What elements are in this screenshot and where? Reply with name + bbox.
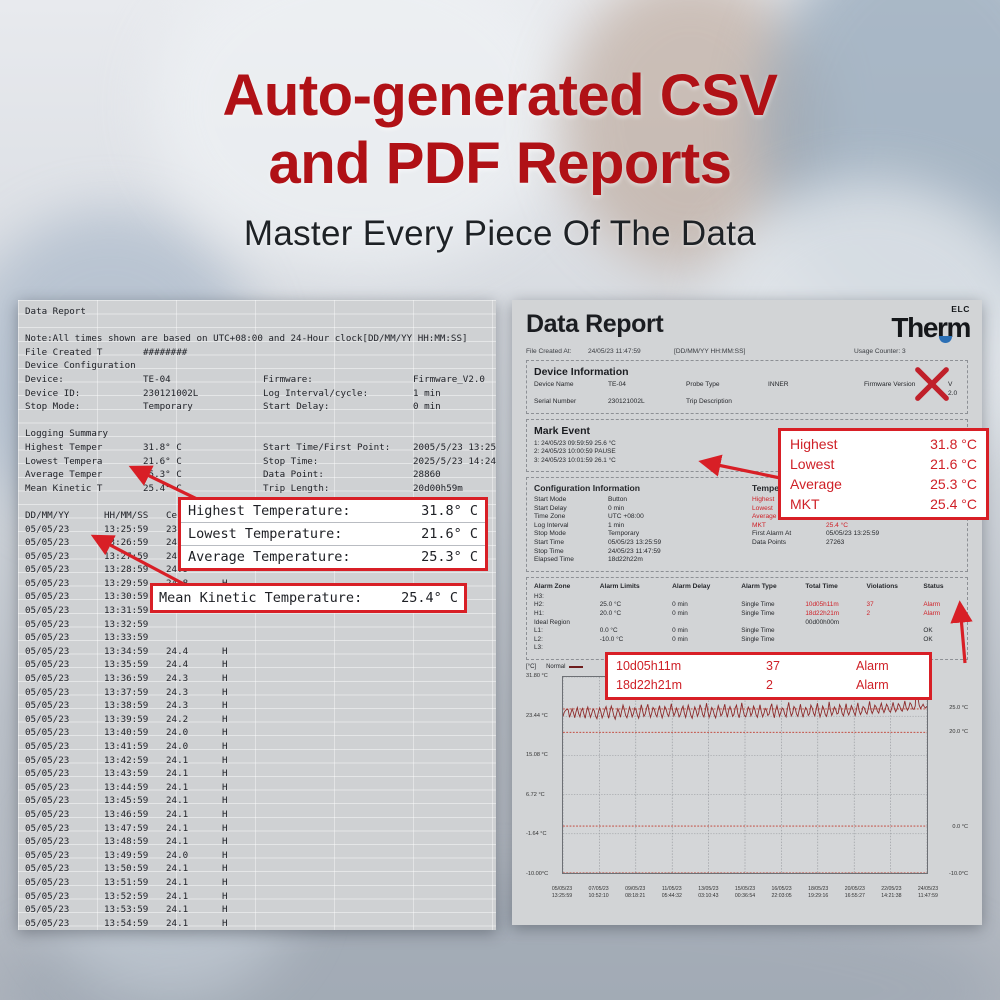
csv-spacer-2 [25,414,489,428]
chart-x-tick-label: 22/05/2314:21:38 [881,886,901,900]
chart-x-tick-label: 18/05/2319:29:16 [808,886,828,900]
csv-data-row: 05/05/2313:52:5924.1H [25,890,489,904]
device-info-key-2: Probe Type [686,381,768,398]
chart-x-axis: 05/05/2313:25:5907/05/2310:52:1009/05/23… [562,886,928,906]
csv-cell-time: 13:48:59 [104,835,166,849]
csv-cell-flag: H [222,835,262,849]
csv-cell-flag: H [222,699,262,713]
csv-config-row-label: Stop Mode: [25,400,143,414]
pdf-callout-stat-label: Lowest [790,454,834,474]
device-info-key: Serial Number [534,398,608,407]
csv-cell-centigrade: 24.0 [166,849,222,863]
csv-cell-centigrade: 24.1 [166,822,222,836]
csv-cell-time: 13:37:59 [104,686,166,700]
csv-callout-label: Lowest Temperature: [188,524,342,544]
chart-y-tick-label: -10.00°C [526,871,548,877]
csv-data-row: 05/05/2313:45:5924.1H [25,794,489,808]
csv-cell-date: 05/05/23 [25,686,104,700]
csv-cell-flag: H [222,726,262,740]
brand-logo: Therm ELC [891,312,970,344]
csv-config-row-label: Device: [25,373,143,387]
csv-cell-centigrade: 24.0 [166,740,222,754]
csv-callout-label: Highest Temperature: [188,501,351,521]
device-information-rows: Device NameTE-04Probe TypeINNERFirmware … [534,381,960,407]
csv-data-row: 05/05/2313:36:5924.3H [25,672,489,686]
csv-data-row: 05/05/2313:48:5924.1H [25,835,489,849]
chart-x-tick-time: 08:18:21 [625,893,645,900]
csv-callout-temperatures: Highest Temperature:31.8° CLowest Temper… [178,497,488,571]
csv-cell-time: 13:34:59 [104,645,166,659]
csv-cell-date: 05/05/23 [25,862,104,876]
chart-x-tick-time: 19:29:16 [808,893,828,900]
csv-data-row: 05/05/2313:34:5924.4H [25,645,489,659]
chart-x-tick-label: 09/05/2308:18:21 [625,886,645,900]
chart-x-tick-label: 24/05/2311:47:59 [918,886,938,900]
csv-config-row-label-2: Firmware: [263,373,413,387]
csv-cell-date: 05/05/23 [25,849,104,863]
chart-x-tick-date: 15/05/23 [735,886,755,893]
csv-cell-time: 13:49:59 [104,849,166,863]
chart-x-tick-time: 22:03:05 [771,893,791,900]
csv-cell-date: 05/05/23 [25,835,104,849]
csv-cell-time: 13:35:59 [104,658,166,672]
csv-data-row: 05/05/2313:50:5924.1H [25,862,489,876]
csv-cell-date: 05/05/23 [25,672,104,686]
chart-right-tick-label: 0.0 °C [952,824,968,830]
csv-cell-date: 05/05/23 [25,822,104,836]
pdf-callout-stat-row: Average25.3 °C [790,474,977,494]
pdf-callout-alarm-status: Alarm [856,657,889,676]
chart-plot-area: 31.80 °C23.44 °C15.08 °C6.72 °C-1.64 °C-… [526,672,968,884]
csv-cell-date: 05/05/23 [25,645,104,659]
csv-cell-centigrade: 24.1 [166,754,222,768]
csv-cell-flag: H [222,672,262,686]
device-info-key: Device Name [534,381,608,398]
csv-config-rows: Device:TE-04Firmware:Firmware_V2.0Device… [25,373,489,414]
pdf-callout-stat-value: 25.3 °C [903,474,977,494]
csv-cell-date: 05/05/23 [25,808,104,822]
chart-x-tick-date: 16/05/23 [771,886,791,893]
csv-file-created-value: ######## [143,346,263,360]
csv-cell-time: 13:43:59 [104,767,166,781]
csv-config-row-value-2: 0 min [413,400,441,414]
csv-cell-date: 05/05/23 [25,917,104,930]
csv-cell-centigrade: 24.1 [166,890,222,904]
csv-spacer-1 [25,319,489,333]
csv-data-row: 05/05/2313:46:5924.1H [25,808,489,822]
csv-config-row: Stop Mode:TemporaryStart Delay:0 min [25,400,489,414]
chart-x-tick-date: 20/05/23 [845,886,865,893]
pdf-callout-stat-row: Highest31.8 °C [790,434,977,454]
pdf-callout-alarm-total: 18d22h21m [616,676,766,695]
csv-data-row: 05/05/2313:43:5924.1H [25,767,489,781]
csv-cell-flag: H [222,862,262,876]
chart-right-tick-label: 20.0 °C [949,729,968,735]
csv-cell-flag: H [222,794,262,808]
pdf-usage-counter: Usage Counter: 3 [854,348,906,355]
csv-cell-date: 05/05/23 [25,794,104,808]
csv-cell-flag: H [222,658,262,672]
pdf-callout-alarm-row: 10d05h11m37Alarm [616,657,921,676]
csv-cell-flag: H [222,808,262,822]
pdf-callout-alarm-row: 18d22h21m2Alarm [616,676,921,695]
chart-x-tick-date: 18/05/23 [808,886,828,893]
csv-config-row-value-2: 1 min [413,387,441,401]
csv-cell-flag: H [222,822,262,836]
csv-cell-centigrade: 24.1 [166,862,222,876]
csv-cell-time: 13:52:59 [104,890,166,904]
csv-cell-centigrade: 24.1 [166,808,222,822]
device-info-value-2 [768,398,864,407]
chart-x-tick-time: 14:21:38 [881,893,901,900]
csv-cell-time: 13:45:59 [104,794,166,808]
csv-callout-row: Lowest Temperature:21.6° C [181,523,485,546]
pdf-file-meta-row: File Created At: 24/05/23 11:47:59 [DD/M… [526,348,968,355]
csv-cell-flag: H [222,849,262,863]
pdf-callout-alarm-violations: 37 [766,657,856,676]
chart-x-tick-time: 16:55:27 [845,893,865,900]
pdf-file-created-format: [DD/MM/YY HH:MM:SS] [674,348,854,355]
csv-cell-time: 13:42:59 [104,754,166,768]
pdf-callout-stat-value: 25.4 °C [903,494,977,514]
csv-cell-flag: H [222,876,262,890]
chart-x-tick-time: 03:10:43 [698,893,718,900]
csv-data-row: 05/05/2313:53:5924.1H [25,903,489,917]
pdf-callout-temperature-stats: Highest31.8 °CLowest21.6 °CAverage25.3 °… [778,428,989,520]
csv-cell-flag: H [222,781,262,795]
csv-file-created-label: File Created T [25,346,143,360]
chart-y-tick-label: 15.08 °C [526,752,548,758]
pdf-callout-stat-row: MKT25.4 °C [790,494,977,514]
pdf-callout-alarm-status: Alarm [856,676,889,695]
csv-callout-row: Average Temperature:25.3° C [181,546,485,568]
chart-x-tick-date: 11/05/23 [662,886,682,893]
chart-x-tick-time: 10:52:10 [588,893,608,900]
csv-callout-mkt-label: Mean Kinetic Temperature: [159,588,362,608]
chart-right-tick-label: -10.0°C [949,871,968,877]
csv-cell-centigrade: 24.1 [166,917,222,930]
csv-logging-heading: Logging Summary [25,427,489,441]
chart-x-tick-time: 11:47:59 [918,893,938,900]
chart-y-tick-label: -1.64 °C [526,831,547,837]
csv-cell-centigrade: 24.4 [166,645,222,659]
csv-data-row: 05/05/2313:47:5924.1H [25,822,489,836]
csv-config-row-value: 230121002L [143,387,263,401]
hero-headline-line1: Auto-generated CSV [0,62,1000,130]
csv-config-row-label-2: Start Delay: [263,400,413,414]
chart-x-tick-label: 13/05/2303:10:43 [698,886,718,900]
csv-cell-time: 13:38:59 [104,699,166,713]
csv-cell-time: 13:36:59 [104,672,166,686]
csv-cell-date: 05/05/23 [25,767,104,781]
pdf-callout-alarm-violations: 2 [766,676,856,695]
pdf-callout-stat-label: MKT [790,494,820,514]
csv-cell-centigrade: 24.1 [166,835,222,849]
csv-callout-label: Average Temperature: [188,547,351,567]
device-info-row: Serial Number230121002LTrip Description [534,398,960,407]
csv-data-row: 05/05/2313:44:5924.1H [25,781,489,795]
chart-x-tick-label: 05/05/2313:25:59 [552,886,572,900]
csv-cell-centigrade: 24.3 [166,672,222,686]
csv-cell-time: 13:44:59 [104,781,166,795]
pdf-callout-stat-value: 21.6 °C [903,454,977,474]
csv-file-created-row: File Created T ######## [25,346,489,360]
chart-x-tick-label: 07/05/2310:52:10 [588,886,608,900]
csv-cell-date: 05/05/23 [25,754,104,768]
csv-config-row: Device:TE-04Firmware:Firmware_V2.0 [25,373,489,387]
pdf-callout-stat-label: Average [790,474,842,494]
brand-superscript: ELC [951,304,970,314]
device-information-heading: Device Information [534,366,960,378]
csv-cell-flag: H [222,645,262,659]
brand-name: Therm ELC [891,312,970,344]
csv-cell-centigrade: 24.1 [166,794,222,808]
chart-x-tick-label: 15/05/2300:36:54 [735,886,755,900]
csv-cell-time: 13:51:59 [104,876,166,890]
csv-cell-flag: H [222,917,262,930]
pdf-callout-alarm-total: 10d05h11m [616,657,766,676]
csv-cell-flag: H [222,754,262,768]
csv-cell-date: 05/05/23 [25,781,104,795]
csv-cell-flag: H [222,903,262,917]
csv-cell-flag: H [222,686,262,700]
csv-data-row: 05/05/2313:41:5924.0H [25,740,489,754]
csv-title: Data Report [25,305,489,319]
csv-cell-date: 05/05/23 [25,658,104,672]
csv-cell-date: 05/05/23 [25,631,104,645]
csv-callout-value: 25.3° C [421,547,478,567]
chart-right-tick-label: 25.0 °C [949,705,968,711]
csv-cell-time: 13:54:59 [104,917,166,930]
chart-x-tick-date: 24/05/23 [918,886,938,893]
csv-cell-time: 13:40:59 [104,726,166,740]
csv-callout-value: 21.6° C [421,524,478,544]
csv-data-row: 05/05/2313:54:5924.1H [25,917,489,930]
csv-cell-date: 05/05/23 [25,699,104,713]
csv-cell-centigrade [166,631,222,645]
csv-cell-centigrade: 24.4 [166,658,222,672]
csv-callout-value: 31.8° C [421,501,478,521]
chart-x-tick-date: 22/05/23 [881,886,901,893]
csv-data-row: 05/05/2313:38:5924.3H [25,699,489,713]
device-info-key-2: Trip Description [686,398,768,407]
csv-cell-centigrade: 24.2 [166,713,222,727]
csv-callout-mkt: Mean Kinetic Temperature: 25.4° C [150,583,467,613]
csv-cell-centigrade: 24.3 [166,686,222,700]
hero-subheadline: Master Every Piece Of The Data [0,214,1000,254]
csv-cell-centigrade: 24.3 [166,699,222,713]
pdf-file-created-label: File Created At: [526,348,588,355]
csv-cell-flag [222,631,262,645]
red-cross-icon [913,365,951,403]
csv-config-row-value-2: Firmware_V2.0 [413,373,485,387]
chart-x-tick-time: 00:36:54 [735,893,755,900]
csv-cell-centigrade: 24.0 [166,726,222,740]
csv-cell-time: 13:33:59 [104,631,166,645]
csv-cell-time: 13:46:59 [104,808,166,822]
chart-x-tick-label: 11/05/2305:44:32 [662,886,682,900]
device-information-section: Device Information Device NameTE-04Probe… [526,360,968,414]
pdf-file-created-value: 24/05/23 11:47:59 [588,348,674,355]
csv-cell-flag: H [222,740,262,754]
csv-callout-row: Highest Temperature:31.8° C [181,500,485,523]
brand-name-text: Therm [891,312,970,343]
csv-config-row-label: Device ID: [25,387,143,401]
csv-cell-flag: H [222,767,262,781]
csv-device-config-heading: Device Configuration [25,359,489,373]
csv-cell-time: 13:41:59 [104,740,166,754]
csv-config-row-value: TE-04 [143,373,263,387]
csv-data-row: 05/05/2313:37:5924.3H [25,686,489,700]
chart-x-tick-label: 20/05/2316:55:27 [845,886,865,900]
chart-x-tick-label: 16/05/2322:03:05 [771,886,791,900]
chart-series-svg [563,677,927,873]
csv-cell-date: 05/05/23 [25,713,104,727]
device-info-row: Device NameTE-04Probe TypeINNERFirmware … [534,381,960,398]
csv-cell-time: 13:39:59 [104,713,166,727]
csv-cell-date: 05/05/23 [25,740,104,754]
csv-cell-flag: H [222,890,262,904]
csv-cell-time: 13:47:59 [104,822,166,836]
csv-cell-time: 13:50:59 [104,862,166,876]
chart-x-tick-date: 05/05/23 [552,886,572,893]
chart-x-tick-time: 13:25:59 [552,893,572,900]
pdf-callout-stat-label: Highest [790,434,837,454]
csv-cell-centigrade: 24.1 [166,767,222,781]
csv-cell-date: 05/05/23 [25,890,104,904]
csv-data-row: 05/05/2313:49:5924.0H [25,849,489,863]
pdf-callout-alarm-summary: 10d05h11m37Alarm18d22h21m2Alarm [605,652,932,700]
csv-cell-date: 05/05/23 [25,903,104,917]
device-info-value: TE-04 [608,381,686,398]
chart-canvas [562,676,928,874]
chart-x-tick-time: 05:44:32 [662,893,682,900]
pdf-callout-stat-row: Lowest21.6 °C [790,454,977,474]
csv-config-row-value: Temporary [143,400,263,414]
csv-note: Note:All times shown are based on UTC+08… [25,332,489,346]
hero-headline-line2: and PDF Reports [0,130,1000,198]
csv-cell-centigrade: 24.1 [166,876,222,890]
csv-data-row: 05/05/2313:40:5924.0H [25,726,489,740]
csv-data-row: 05/05/2313:42:5924.1H [25,754,489,768]
csv-cell-date: 05/05/23 [25,726,104,740]
chart-x-tick-date: 07/05/23 [588,886,608,893]
csv-cell-centigrade: 24.1 [166,903,222,917]
chart-x-tick-date: 13/05/23 [698,886,718,893]
csv-cell-flag: H [222,713,262,727]
chart-y-tick-label: 31.80 °C [526,673,548,679]
csv-data-row: 05/05/2313:39:5924.2H [25,713,489,727]
csv-data-row: 05/05/2313:51:5924.1H [25,876,489,890]
csv-cell-time: 13:53:59 [104,903,166,917]
chart-y-tick-label: 23.44 °C [526,713,548,719]
csv-config-row-label-2: Log Interval/cycle: [263,387,413,401]
device-info-value-2: INNER [768,381,864,398]
device-info-value: 230121002L [608,398,686,407]
pdf-callout-stat-value: 31.8 °C [903,434,977,454]
chart-x-tick-date: 09/05/23 [625,886,645,893]
hero-heading-block: Auto-generated CSV and PDF Reports Maste… [0,62,1000,254]
csv-callout-mkt-value: 25.4° C [401,588,458,608]
csv-config-row: Device ID:230121002LLog Interval/cycle:1… [25,387,489,401]
csv-data-row: 05/05/2313:35:5924.4H [25,658,489,672]
chart-y-tick-label: 6.72 °C [526,792,545,798]
csv-cell-centigrade: 24.1 [166,781,222,795]
csv-data-row: 05/05/2313:33:59 [25,631,489,645]
csv-cell-date: 05/05/23 [25,876,104,890]
